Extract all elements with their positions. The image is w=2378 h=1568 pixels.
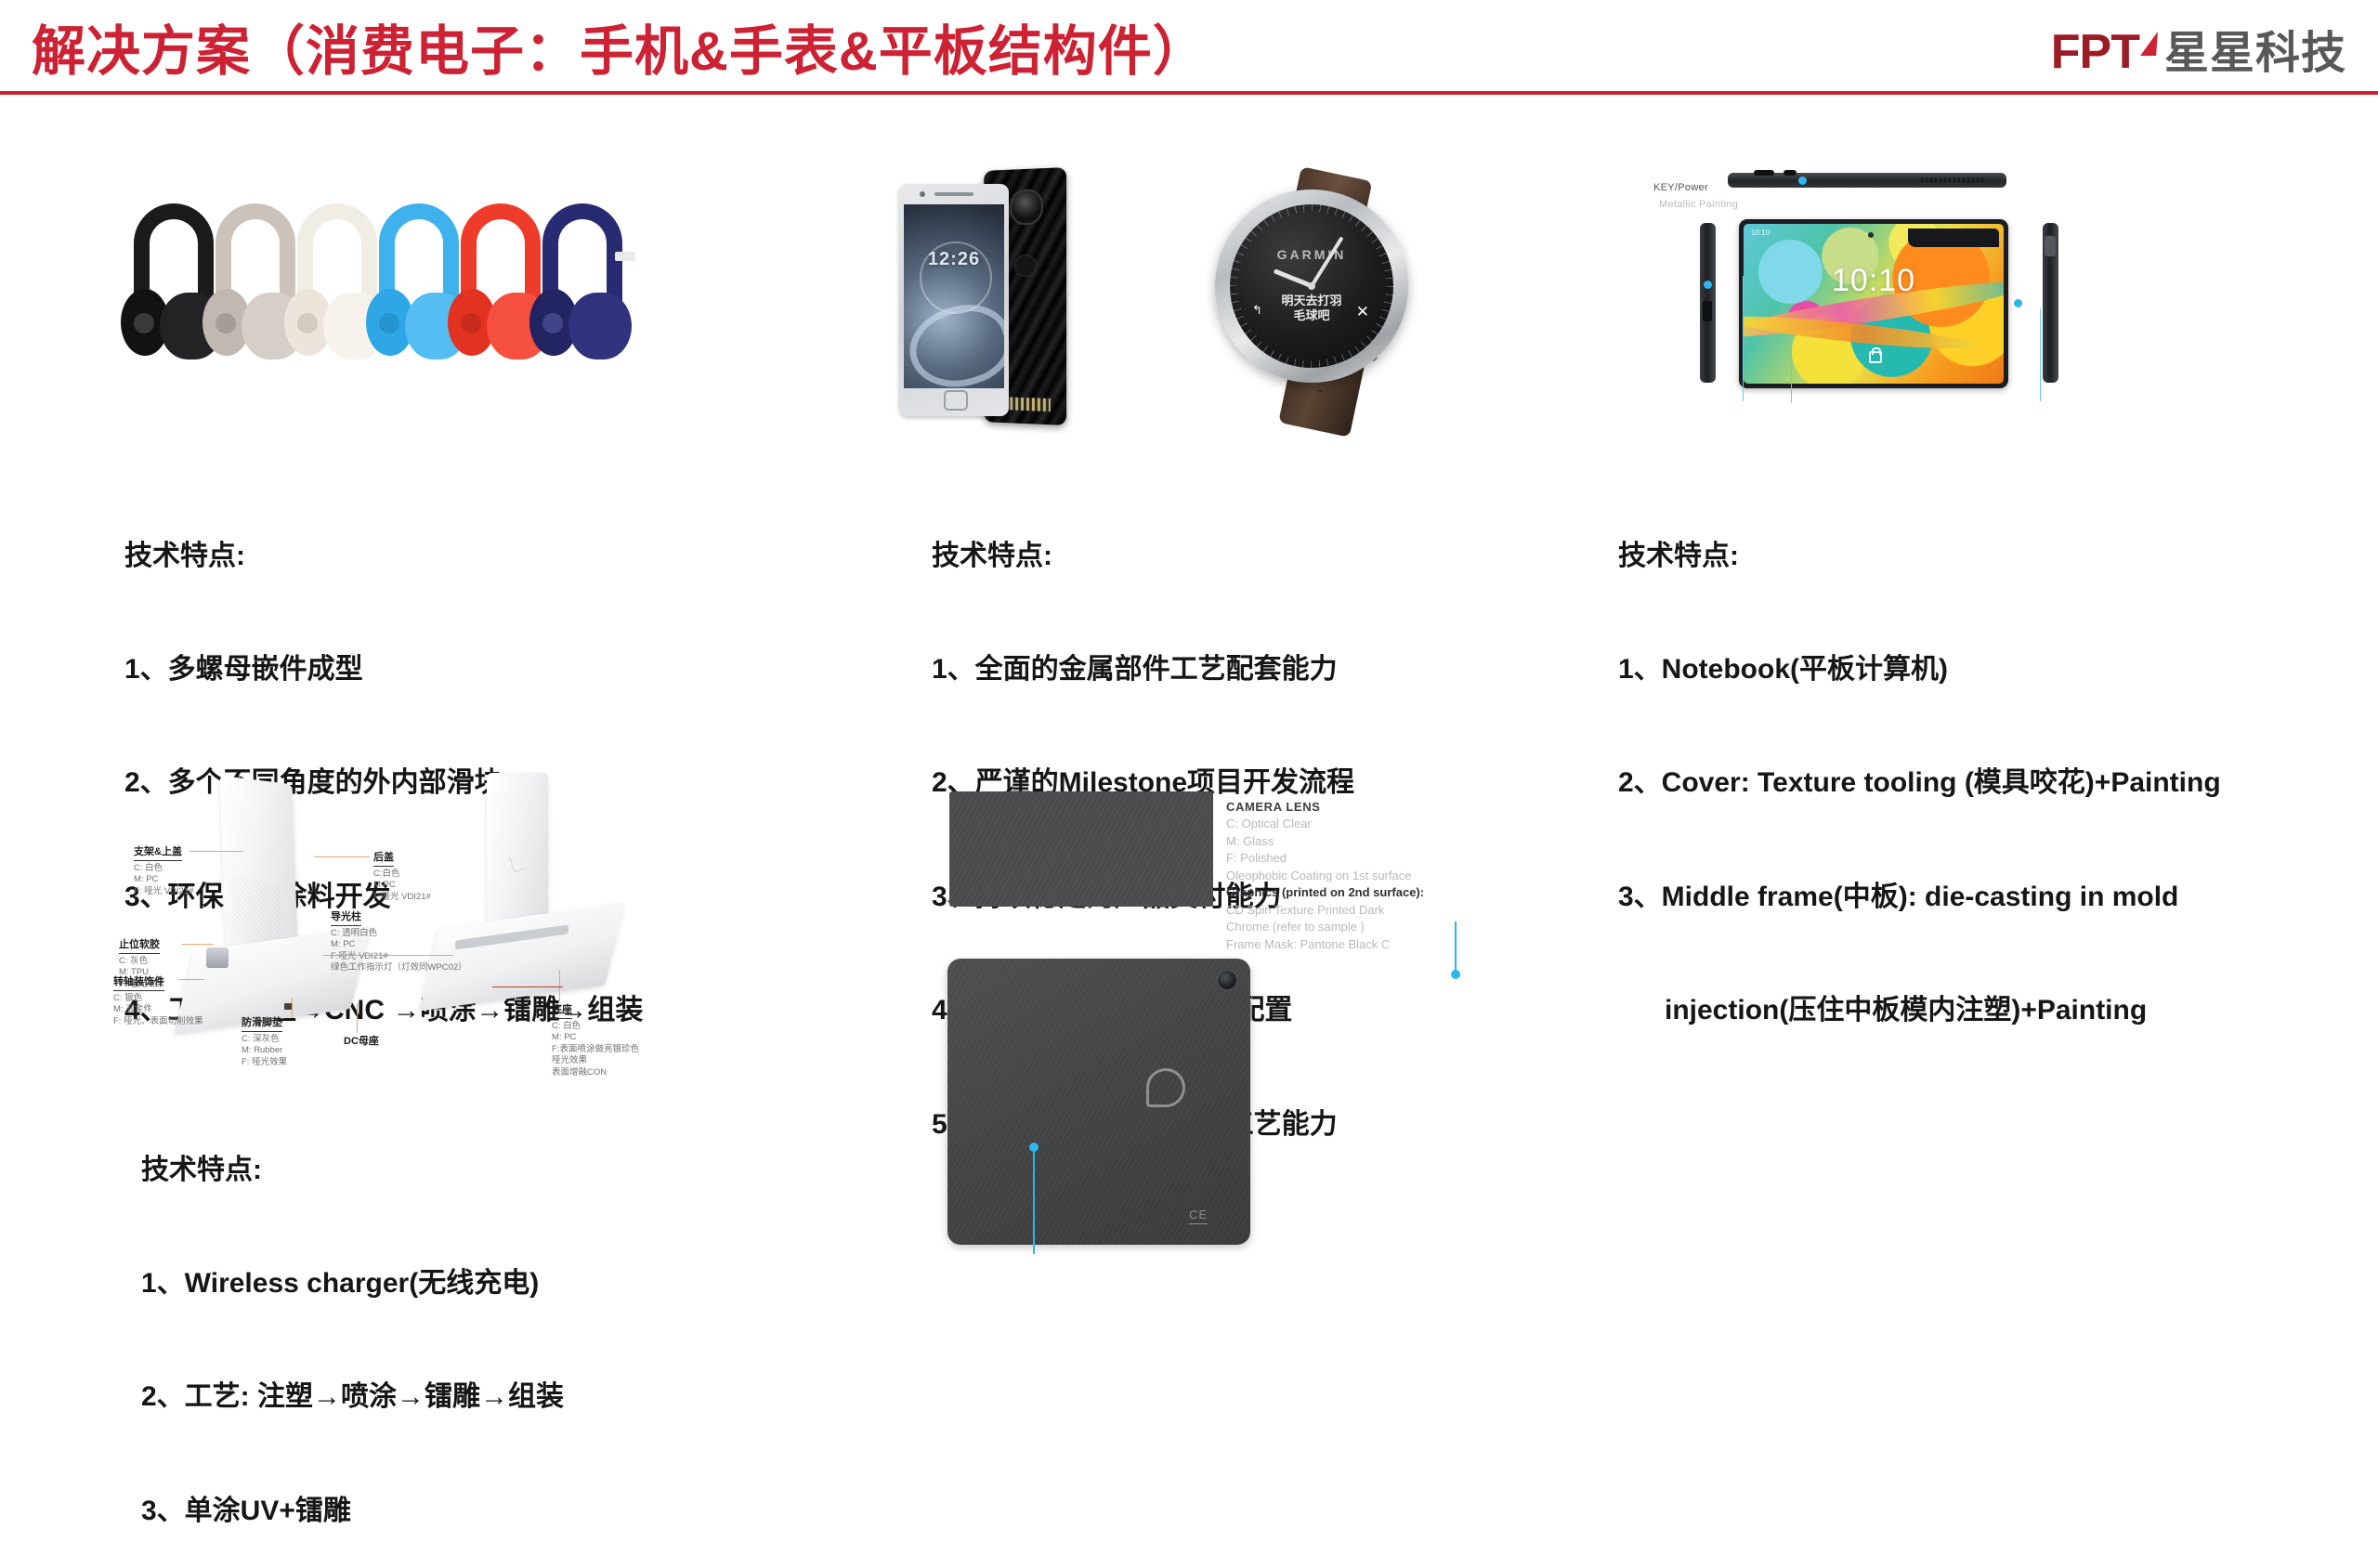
charger-leader-line	[189, 851, 243, 852]
phone-front-camera-icon	[920, 191, 925, 197]
lens-spec-line: Oleophobic Coating on 1st surface	[1226, 869, 1411, 882]
feature-item: 2、Cover: Texture tooling (模具咬花)+Painting	[1618, 764, 2221, 803]
charger-callout-rear-cover: 后盖 C:白色 M:PC F:哑光 VDI21#	[373, 851, 431, 903]
lens-spec-graphics-line: CD Spin Texture Printed Dark	[1226, 903, 1384, 917]
charger-callout-light-guide: 导光柱 C: 透明白色 M: PC F:哑光 VDI21# 绿色工作指示灯（灯效…	[331, 910, 467, 974]
camera-callout-line	[1455, 921, 1457, 972]
phone-earpiece-icon	[934, 192, 973, 196]
phone-rear-camera-icon	[1010, 189, 1043, 225]
feature-heading: 技术特点:	[1618, 538, 2221, 576]
slide-header: 解决方案（消费电子：手机&手表&平板结构件） FPT 星星科技	[0, 0, 2378, 93]
watch-dismiss-icon: ✕	[1356, 303, 1369, 321]
brand-logo: FPT 星星科技	[2051, 17, 2346, 76]
brand-tick-icon	[2140, 32, 2158, 56]
charger-callout-base: 底座 C: 白色 M: PC F:表面喷涂做亮银珍色 哑光效果 表面增融CON	[552, 1003, 639, 1078]
tablet-product-image: KEY/Power Metallic Painting 10:10 ▮▮ 10:…	[1642, 160, 2107, 420]
feature-item-continuation: injection(压住中板模内注塑)+Painting	[1618, 992, 2221, 1030]
watch-reply-icon: ↰	[1252, 303, 1262, 318]
ce-mark-label: CE	[1189, 1208, 1208, 1224]
lens-spec-line: M: Glass	[1226, 834, 1274, 848]
header-divider	[0, 91, 2378, 95]
charger-dimension-line	[492, 987, 563, 987]
feature-item: 1、全面的金属部件工艺配套能力	[932, 651, 1354, 689]
watch-hand-pivot	[1308, 282, 1315, 290]
lens-spec-line: C: Optical Clear	[1226, 817, 1312, 830]
lens-spec-graphics-line: Chrome (refer to sample )	[1226, 920, 1365, 934]
alcatel-logo-icon	[1146, 1068, 1185, 1107]
tablet-right-edge-view	[2043, 223, 2058, 383]
tablet-annotation-key-power: KEY/Power	[1653, 182, 1708, 193]
alcatel-tablet-image: CAMERA LENS C: Optical Clear M: Glass F:…	[929, 791, 1486, 1247]
tablet-lockscreen-clock: 10:10	[1744, 263, 2004, 299]
feature-heading: 技术特点:	[141, 1152, 564, 1190]
phone-watch-product-image: 12:26 GARMIN 明天去打羽 毛球吧 ↰ ✕	[882, 160, 1458, 429]
charger-leader-line	[323, 955, 453, 956]
charger-leader-line	[292, 998, 293, 1018]
lens-spec-line: F: Polished	[1226, 851, 1287, 865]
tablet-rear-cover: CE	[947, 959, 1250, 1245]
feature-heading: 技术特点:	[124, 538, 643, 576]
feature-item: 2、工艺: 注塑→喷涂→镭雕→组装	[141, 1379, 564, 1417]
tablet-rear-camera-icon	[1217, 970, 1237, 990]
charger-leader-line	[314, 856, 370, 857]
tablet-callout-dot	[1704, 281, 1712, 289]
brand-logo-chinese: 星星科技	[2164, 32, 2346, 76]
watch-case: GARMIN 明天去打羽 毛球吧 ↰ ✕	[1215, 189, 1408, 383]
tablet-callout-line	[1791, 346, 1792, 403]
tablet-left-edge-view	[1700, 223, 1716, 383]
phone-clock-label: 12:26	[904, 249, 1004, 270]
feature-heading: 技术特点:	[932, 538, 1354, 576]
charger-vent-texture	[232, 877, 281, 946]
smartwatch: GARMIN 明天去打羽 毛球吧 ↰ ✕	[1180, 169, 1440, 429]
tablet-sim-slot	[1703, 301, 1712, 321]
phone-home-button	[944, 390, 968, 411]
feature-item: 1、多螺母嵌件成型	[124, 651, 643, 689]
tablet-side-button	[2045, 236, 2056, 256]
feature-item: 3、单涂UV+镭雕	[141, 1493, 564, 1531]
phone-screen: 12:26	[904, 204, 1004, 388]
tablet-top-edge-view	[1728, 173, 2006, 188]
feature-item: 3、Middle frame(中板): die-casting in mold	[1618, 879, 2221, 917]
lens-spec-heading: CAMERA LENS	[1226, 800, 1320, 814]
charger-leader-line	[559, 970, 560, 1001]
tablet-power-button	[1783, 170, 1797, 176]
tablet-feature-block: 技术特点: 1、Notebook(平板计算机) 2、Cover: Texture…	[1618, 462, 2221, 1068]
charger-leader-line	[178, 979, 204, 980]
tablet-texture-swatch	[949, 791, 1213, 907]
rear-callout-line	[1033, 1150, 1035, 1254]
watch-notification-line1: 明天去打羽	[1281, 294, 1341, 307]
tablet-screen: 10:10 ▮▮ 10:10	[1744, 224, 2004, 384]
tablet-volume-button	[1754, 170, 1774, 176]
phone-wallpaper-swirl	[904, 293, 1004, 388]
tablet-status-left: 10:10	[1751, 229, 1770, 237]
charger-callout-hinge-trim: 转轴装饰件 C: 银色 M: 五金件 F: 哑光、表面切削效果	[113, 975, 203, 1027]
phone-front-view: 12:26	[899, 184, 1009, 416]
phone-fingerprint-icon	[1014, 255, 1037, 277]
charger-leader-line	[357, 1003, 358, 1033]
headphones-row	[119, 160, 611, 369]
tablet-callout-dot	[2014, 299, 2022, 307]
charger-unit-upright	[429, 773, 652, 1014]
feature-item: 1、Notebook(平板计算机)	[1618, 651, 2221, 689]
tablet-camera-bar	[1908, 229, 1999, 247]
tablet-front-view: 10:10 ▮▮ 10:10	[1739, 219, 2008, 388]
feature-item: 1、Wireless charger(无线充电)	[141, 1265, 564, 1303]
tablet-annotation-metallic-painting: Metallic Painting	[1659, 199, 1738, 210]
charger-hinge-trim	[206, 947, 229, 968]
lens-spec-graphics-line: Frame Mask: Pantone Black C	[1226, 937, 1390, 951]
charger-callout-dc-jack: DC母座	[344, 1035, 379, 1052]
watch-face: GARMIN 明天去打羽 毛球吧 ↰ ✕	[1230, 204, 1393, 368]
tablet-callout-line	[2040, 308, 2041, 401]
charger-unit-open	[175, 780, 407, 1031]
tablet-front-camera-icon	[1868, 232, 1874, 238]
charger-feature-block: 技术特点: 1、Wireless charger(无线充电) 2、工艺: 注塑→…	[141, 1076, 564, 1568]
tablet-callout-dot	[1798, 176, 1807, 185]
charger-callout-antislip-pad: 防滑脚垫 C: 深灰色 M: Rubber F: 哑光效果	[242, 1016, 287, 1068]
charger-leader-line	[182, 944, 214, 945]
brand-logo-latin: FPT	[2051, 28, 2139, 76]
tablet-speaker-grill	[1921, 177, 1986, 182]
headphones-product-image	[119, 160, 611, 369]
camera-lens-spec: CAMERA LENS C: Optical Clear M: Glass F:…	[1226, 799, 1424, 953]
watch-brand-label: GARMIN	[1230, 247, 1393, 262]
page-title: 解决方案（消费电子：手机&手表&平板结构件）	[32, 7, 1208, 85]
watch-notification-line2: 毛球吧	[1293, 308, 1329, 322]
headphone-navy	[528, 203, 637, 361]
lens-spec-graphics-label: Graphics (printed on 2nd surface):	[1226, 885, 1424, 899]
charger-callout-stand-cover: 支架&上盖 C: 白色 M: PC F: 哑光 VDI21#	[134, 845, 193, 897]
wireless-charger-diagram: 支架&上盖 C: 白色 M: PC F: 哑光 VDI21# 后盖 C:白色 M…	[85, 764, 661, 1052]
tablet-lock-icon	[1869, 351, 1882, 363]
